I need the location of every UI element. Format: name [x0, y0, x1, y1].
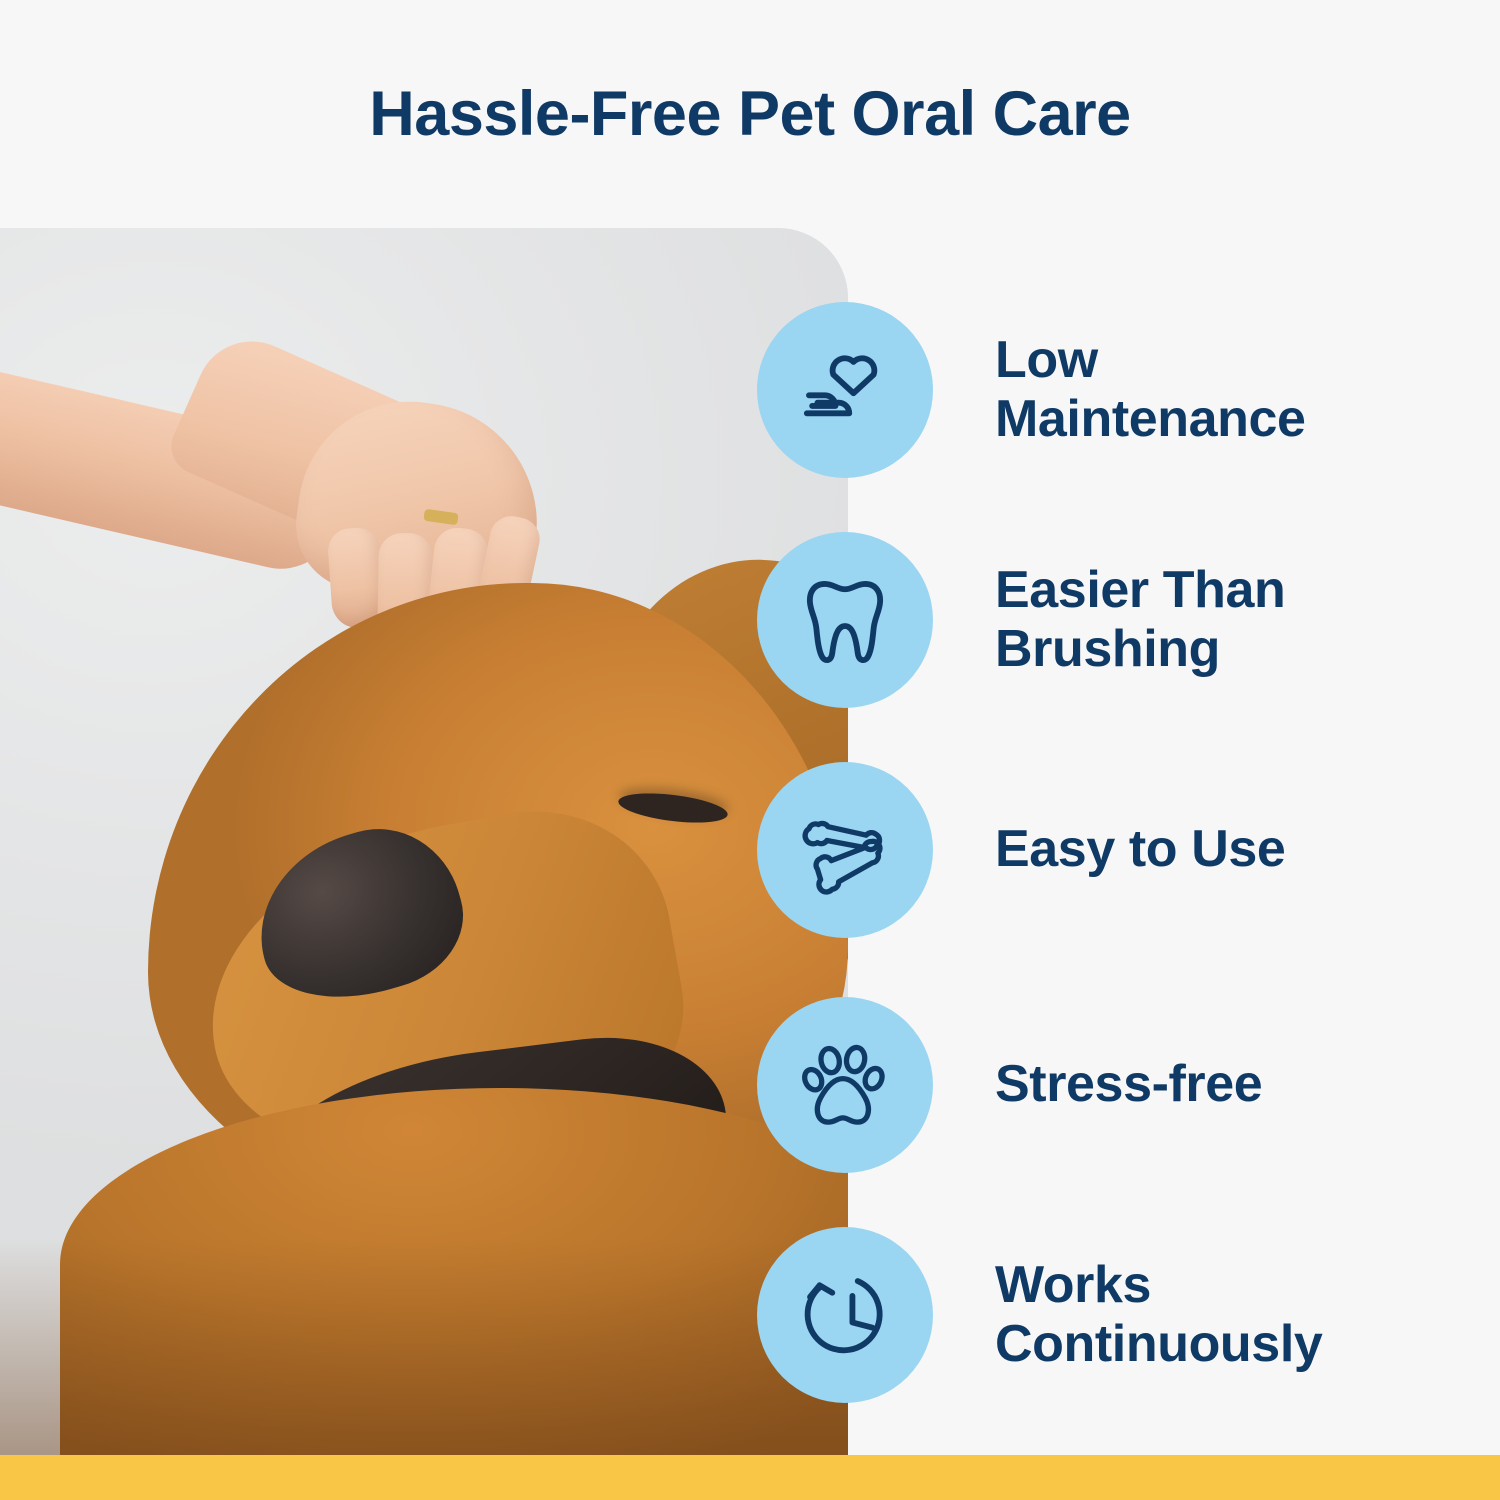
feature-label: Easier Than Brushing	[995, 561, 1285, 680]
paw-print-icon	[792, 1032, 898, 1138]
feature-item-low-maintenance[interactable]: Low Maintenance	[757, 302, 1306, 478]
feature-item-easier-than-brushing[interactable]: Easier Than Brushing	[757, 532, 1285, 708]
photo-shading	[0, 1238, 848, 1455]
feature-item-works-continuously[interactable]: Works Continuously	[757, 1227, 1322, 1403]
icon-badge	[757, 1227, 933, 1403]
feature-item-stress-free[interactable]: Stress-free	[757, 997, 1262, 1173]
icon-badge	[757, 532, 933, 708]
feature-label: Stress-free	[995, 1055, 1262, 1114]
feature-label: Easy to Use	[995, 820, 1285, 879]
icon-badge	[757, 762, 933, 938]
dog-eye	[617, 788, 729, 827]
heart-in-hand-icon	[792, 337, 898, 443]
infographic-root: Hassle-Free Pet Oral Care	[0, 0, 1500, 1500]
icon-badge	[757, 997, 933, 1173]
icon-badge	[757, 302, 933, 478]
tooth-icon	[792, 567, 898, 673]
feature-item-easy-to-use[interactable]: Easy to Use	[757, 762, 1285, 938]
page-title: Hassle-Free Pet Oral Care	[369, 83, 1130, 146]
feature-label: Works Continuously	[995, 1256, 1322, 1375]
crossed-bones-icon	[792, 797, 898, 903]
header: Hassle-Free Pet Oral Care	[0, 0, 1500, 228]
bottom-accent-bar	[0, 1455, 1500, 1500]
hero-photo	[0, 228, 848, 1455]
clock-refresh-icon	[792, 1262, 898, 1368]
feature-label: Low Maintenance	[995, 331, 1306, 450]
